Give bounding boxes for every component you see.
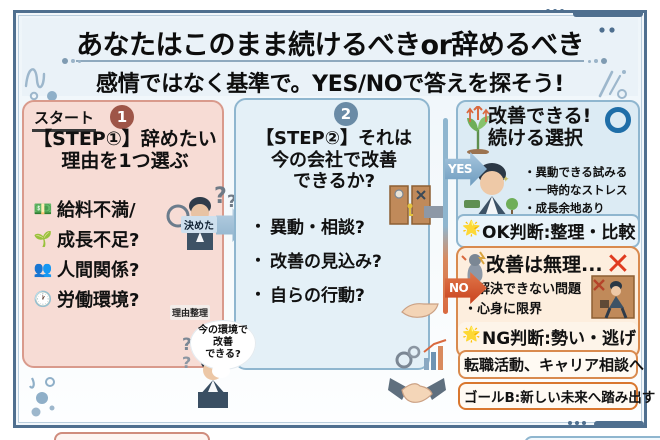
ng-verdict-pill: 🌟 NG判断:勢い・逃げ bbox=[458, 322, 638, 352]
step2-number-badge: 2 bbox=[334, 102, 358, 126]
list-item: 👥 人間関係? bbox=[32, 254, 172, 284]
frame-dots-top-right bbox=[546, 9, 564, 13]
handshake-icon bbox=[386, 362, 448, 410]
bullet-icon: ・ bbox=[250, 213, 266, 237]
header-banner: あなたはこのまま続けるべきor辞めるべき 感情ではなく基準で。YES/NOで答え… bbox=[22, 18, 638, 96]
frame-dots-bottom-right bbox=[568, 421, 586, 425]
list-item: ・ 改善の見込み? bbox=[250, 242, 400, 276]
star-icon: 🌟 bbox=[462, 219, 481, 237]
people-icon: 👥 bbox=[32, 260, 54, 278]
svg-text:✦: ✦ bbox=[502, 175, 510, 185]
ok-verdict-pill: 🌟 OK判断:整理・比較 bbox=[456, 214, 640, 248]
divider-dots-left bbox=[62, 58, 81, 64]
step2-card: 2 【STEP②】それは 今の会社で改善 できるか? ・ 異動・相談? ・ 改善… bbox=[234, 98, 430, 370]
step1-footer-pill: 感情を文字にする bbox=[54, 432, 210, 440]
goal-b-pill: ゴールB:新しい未来へ踏み出す bbox=[458, 382, 638, 410]
exit-door-person-icon bbox=[590, 274, 636, 320]
question-mark-icon: ? bbox=[214, 184, 227, 209]
bullet-icon: ・ bbox=[250, 247, 266, 271]
step2-footer-pill: 解決可能性を探る bbox=[524, 436, 660, 440]
step1-number-badge: 1 bbox=[110, 105, 134, 129]
yes-result-list: ・異動できる試みる ・一時的なストレス ・成長余地あり bbox=[524, 164, 642, 217]
frame-tab-top-right bbox=[573, 10, 643, 17]
divider-dots-right bbox=[588, 58, 607, 64]
list-item: 🕐 労働環境? bbox=[32, 284, 172, 314]
infographic-canvas: あなたはこのまま続けるべきor辞めるべき 感情ではなく基準で。YES/NOで答え… bbox=[0, 0, 660, 440]
money-icon: 💵 bbox=[32, 200, 54, 218]
connector1-label: 決めた bbox=[181, 216, 217, 233]
title-divider bbox=[76, 60, 584, 62]
circle-ok-icon bbox=[605, 107, 631, 133]
list-item: ・ 自らの行動? bbox=[250, 276, 400, 310]
no-result-title: 改善は無理... bbox=[486, 250, 603, 277]
step1-illustration-caption: 理由整理 bbox=[170, 305, 210, 320]
page-subtitle: 感情ではなく基準で。YES/NOで答えを探そう! bbox=[22, 66, 638, 96]
open-hand-icon bbox=[400, 296, 440, 322]
list-item: 🌱 成長不足? bbox=[32, 224, 172, 254]
step1-heading: 【STEP①】辞めたい 理由を1つ選ぶ bbox=[30, 128, 220, 173]
list-item: ・ 異動・相談? bbox=[250, 208, 400, 242]
step1-reason-list: 💵 給料不満/ 🌱 成長不足? 👥 人間関係? 🕐 労働環境? bbox=[32, 194, 172, 314]
bullet-icon: ・ bbox=[250, 281, 266, 305]
frame-tab-bottom-right bbox=[594, 421, 644, 427]
step2-check-list: ・ 異動・相談? ・ 改善の見込み? ・ 自らの行動? bbox=[250, 208, 400, 310]
no-action-pill: 転職活動、キャリア相談へ bbox=[458, 350, 638, 379]
two-doors-icon bbox=[388, 182, 434, 228]
growth-icon: 🌱 bbox=[32, 230, 54, 248]
plant-growth-icon bbox=[464, 106, 492, 154]
page-title: あなたはこのまま続けるべきor辞めるべき bbox=[22, 23, 638, 62]
clock-icon: 🕐 bbox=[32, 290, 54, 308]
star-icon: 🌟 bbox=[462, 325, 481, 343]
list-item: 💵 給料不満/ bbox=[32, 194, 172, 224]
